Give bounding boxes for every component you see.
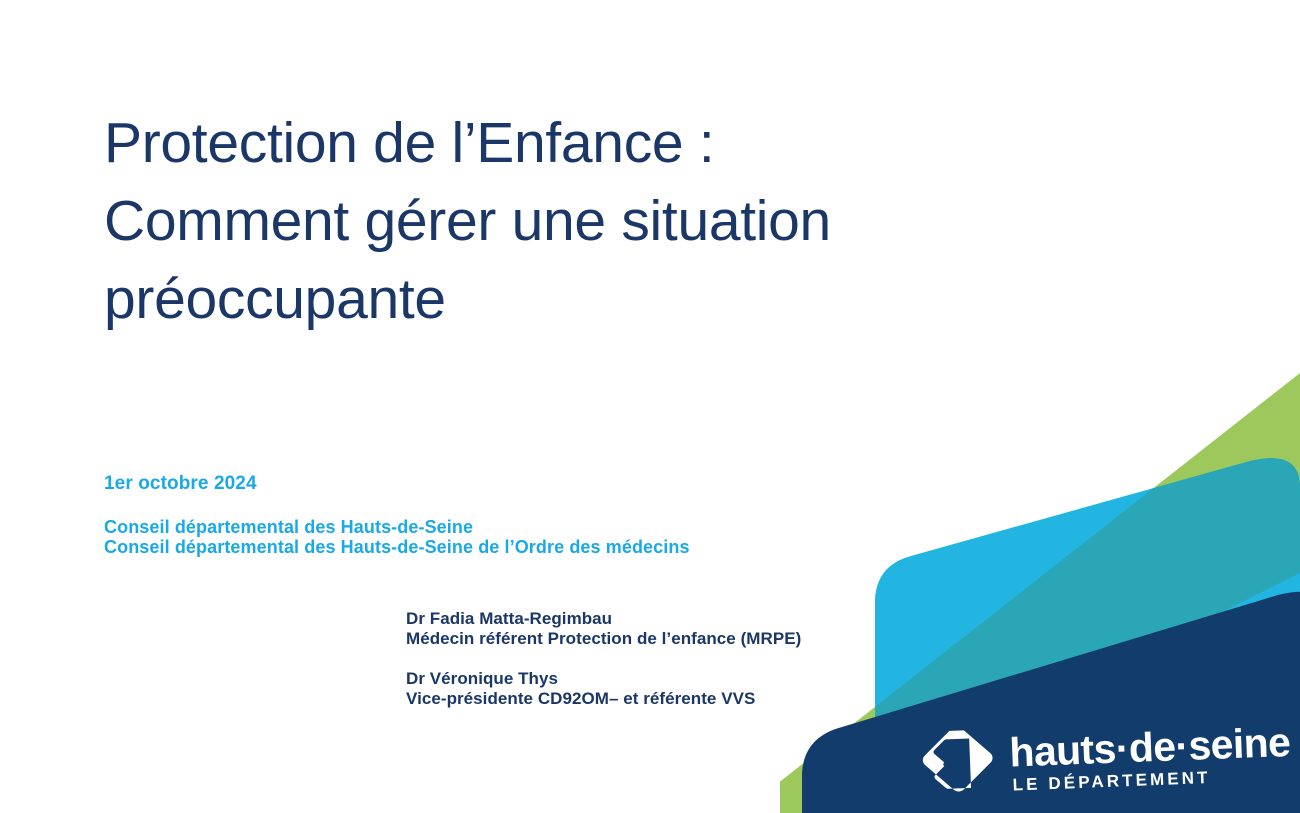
hauts-de-seine-logo: hauts·de·seine LE DÉPARTEMENT [920, 712, 1293, 810]
slide-canvas: Protection de l’Enfance : Comment gérer … [0, 0, 1300, 813]
speakers-block: Dr Fadia Matta-Regimbau Médecin référent… [406, 609, 1026, 709]
diamond-chevron-icon [921, 729, 996, 804]
event-date: 1er octobre 2024 [104, 473, 1004, 495]
title-line-3: préoccupante [104, 260, 1004, 338]
organization-line-2: Conseil départemental des Hauts-de-Seine… [104, 537, 1004, 557]
speaker-entry: Dr Véronique Thys Vice-présidente CD92OM… [406, 669, 1026, 709]
logo-wordmark: hauts·de·seine [1009, 720, 1291, 773]
organization-list: Conseil départemental des Hauts-de-Seine… [104, 517, 1004, 557]
title-line-2: Comment gérer une situation [104, 182, 1004, 260]
organization-line-1: Conseil départemental des Hauts-de-Seine [104, 517, 1004, 537]
logo-text-group: hauts·de·seine LE DÉPARTEMENT [1009, 720, 1292, 796]
speaker-name: Dr Véronique Thys [406, 669, 1026, 689]
title-line-1: Protection de l’Enfance : [104, 104, 1004, 182]
speaker-entry: Dr Fadia Matta-Regimbau Médecin référent… [406, 609, 1026, 649]
speaker-role: Vice-présidente CD92OM– et référente VVS [406, 689, 1026, 709]
page-title: Protection de l’Enfance : Comment gérer … [104, 104, 1004, 338]
event-meta-block: 1er octobre 2024 Conseil départemental d… [104, 473, 1004, 557]
speaker-name: Dr Fadia Matta-Regimbau [406, 609, 1026, 629]
speaker-role: Médecin référent Protection de l’enfance… [406, 629, 1026, 649]
